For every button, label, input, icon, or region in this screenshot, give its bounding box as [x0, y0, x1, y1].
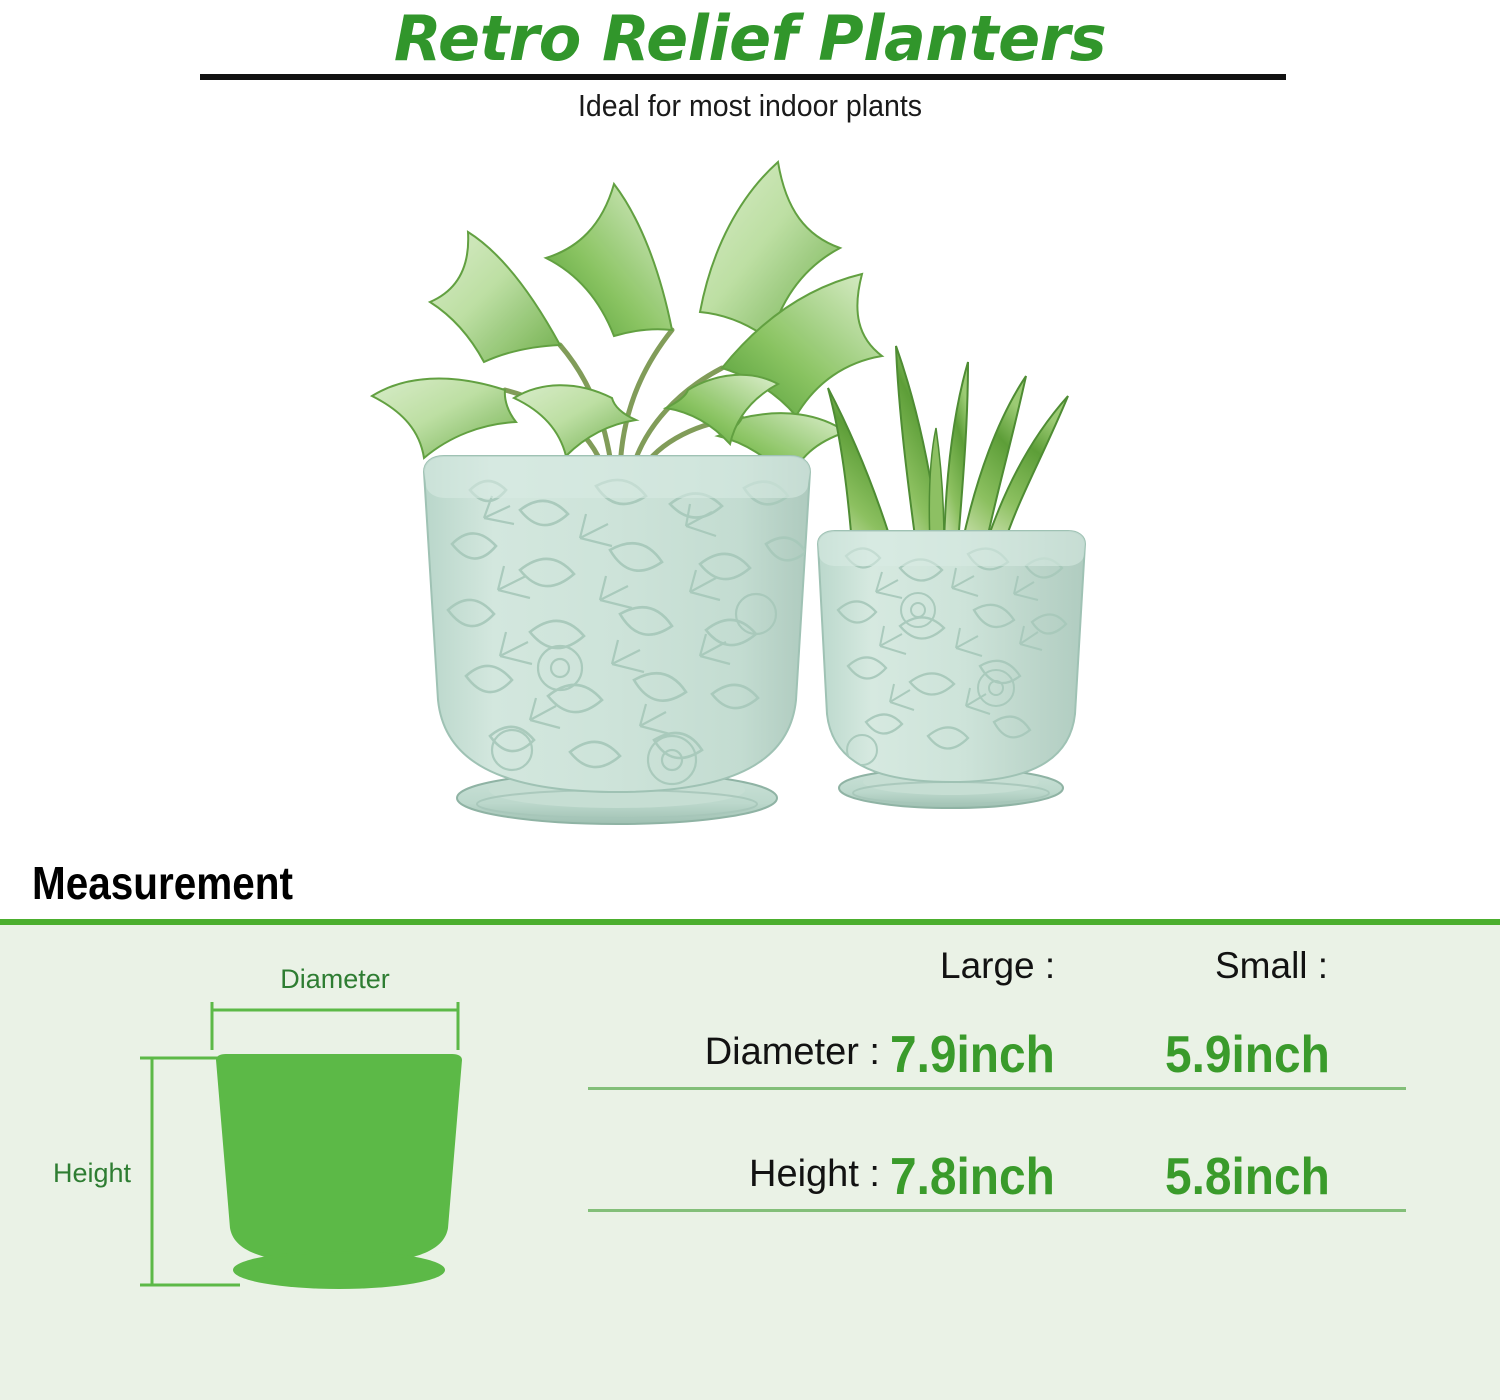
spec-table: Large : Small : Diameter : 7.9inch 5.9in… [588, 925, 1418, 1325]
table-row: Height : 7.8inch 5.8inch [588, 1147, 1418, 1265]
page-subtitle: Ideal for most indoor plants [60, 88, 1440, 124]
column-header-large: Large : [940, 945, 1055, 987]
diameter-dimension-line [212, 1002, 458, 1050]
large-planter [424, 456, 810, 824]
snake-plant [828, 346, 1068, 544]
spec-table-header: Large : Small : [588, 945, 1418, 1005]
pot-dimension-drawing: Diameter Height [40, 940, 560, 1320]
row-label-height: Height : [588, 1153, 880, 1196]
diameter-label: Diameter [280, 964, 390, 994]
row-divider [588, 1087, 1406, 1090]
height-label: Height [53, 1158, 132, 1188]
arrowhead-plant [372, 162, 882, 482]
measurement-panel: Diameter Height Large : Small : [0, 925, 1500, 1400]
measurement-diagram: Diameter Height [40, 940, 560, 1320]
row-label-diameter: Diameter : [588, 1031, 880, 1074]
value-height-large: 7.8inch [890, 1147, 1055, 1207]
page-title: Retro Relief Planters [0, 2, 1500, 75]
header: Retro Relief Planters Ideal for most ind… [0, 0, 1500, 140]
small-planter [818, 531, 1085, 808]
product-photo [0, 140, 1500, 840]
product-infographic: Retro Relief Planters Ideal for most ind… [0, 0, 1500, 1400]
column-header-small: Small : [1215, 945, 1328, 987]
table-row: Diameter : 7.9inch 5.9inch [588, 1025, 1418, 1143]
planters-illustration [0, 140, 1500, 840]
row-divider [588, 1209, 1406, 1212]
value-height-small: 5.8inch [1165, 1147, 1330, 1207]
measurement-heading: Measurement [32, 856, 293, 910]
pot-body-shape [216, 1054, 462, 1264]
title-divider [200, 74, 1286, 80]
value-diameter-large: 7.9inch [890, 1025, 1055, 1085]
value-diameter-small: 5.9inch [1165, 1025, 1330, 1085]
